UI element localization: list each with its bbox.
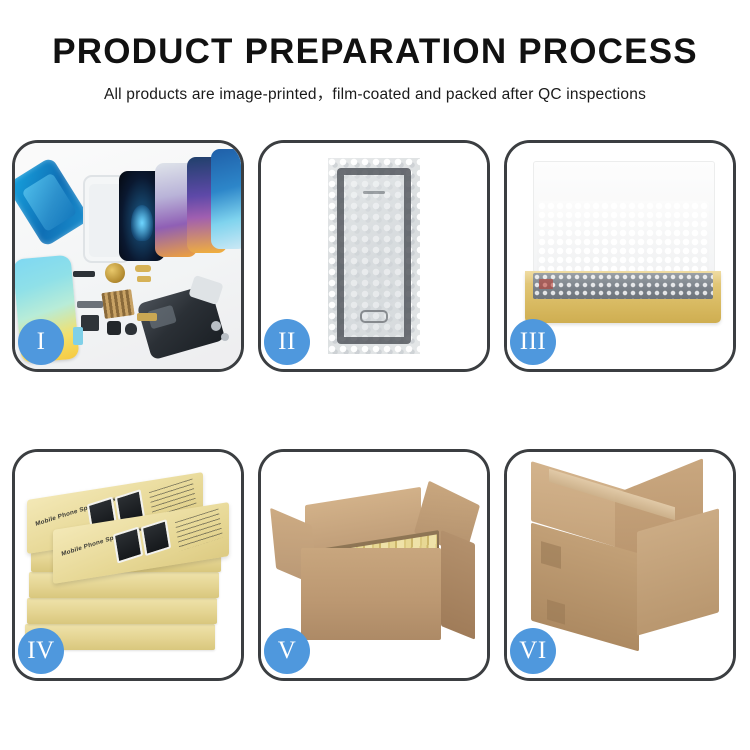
spare-part xyxy=(73,271,95,277)
step-card-2: II xyxy=(258,140,490,372)
step-badge-2: II xyxy=(264,319,310,365)
page-title: PRODUCT PREPARATION PROCESS xyxy=(0,34,750,69)
spare-part xyxy=(81,315,99,331)
steps-grid: I II III xyxy=(12,140,738,681)
step-badge-5: V xyxy=(264,628,310,674)
box-spec-lines xyxy=(175,508,223,551)
spare-part xyxy=(137,313,157,321)
carton-front-panel xyxy=(301,548,441,640)
step-badge-6: VI xyxy=(510,628,556,674)
spare-part xyxy=(211,321,221,331)
wrapped-screen-in-box xyxy=(533,273,713,299)
screen-frame xyxy=(337,168,411,344)
spare-part xyxy=(77,301,103,308)
blue-adhesive-part xyxy=(15,156,91,247)
step-card-1: I xyxy=(12,140,244,372)
chip-array-part xyxy=(101,289,134,319)
step-card-6: VI xyxy=(504,449,736,681)
box-screen-image xyxy=(141,519,171,556)
vibration-motor-part xyxy=(105,263,125,283)
page-subtitle: All products are image-printed，film-coat… xyxy=(0,82,750,104)
spare-part xyxy=(73,327,83,345)
step-badge-1: I xyxy=(18,319,64,365)
step-card-3: III xyxy=(504,140,736,372)
earpiece-slot xyxy=(363,191,385,194)
stacked-box xyxy=(27,598,217,624)
spare-part xyxy=(107,321,121,335)
sealed-carton-side xyxy=(637,508,719,636)
spare-part xyxy=(221,333,229,341)
home-button xyxy=(360,310,388,323)
foam-padding xyxy=(537,201,709,279)
gradient-phone-3 xyxy=(211,149,241,249)
product-preparation-infographic: PRODUCT PREPARATION PROCESS All products… xyxy=(0,0,750,750)
step-card-4: Mobile Phone Spare Parts Mobile Phone Sp… xyxy=(12,449,244,681)
spare-part xyxy=(135,265,151,272)
bubble-wrap-package xyxy=(328,158,420,354)
carton-side-panel xyxy=(441,530,475,640)
box-screen-image xyxy=(113,527,143,564)
spare-part xyxy=(137,276,151,282)
step-badge-4: IV xyxy=(18,628,64,674)
step-badge-3: III xyxy=(510,319,556,365)
step-card-5: V xyxy=(258,449,490,681)
spare-part xyxy=(125,323,137,335)
header: PRODUCT PREPARATION PROCESS All products… xyxy=(0,0,750,104)
